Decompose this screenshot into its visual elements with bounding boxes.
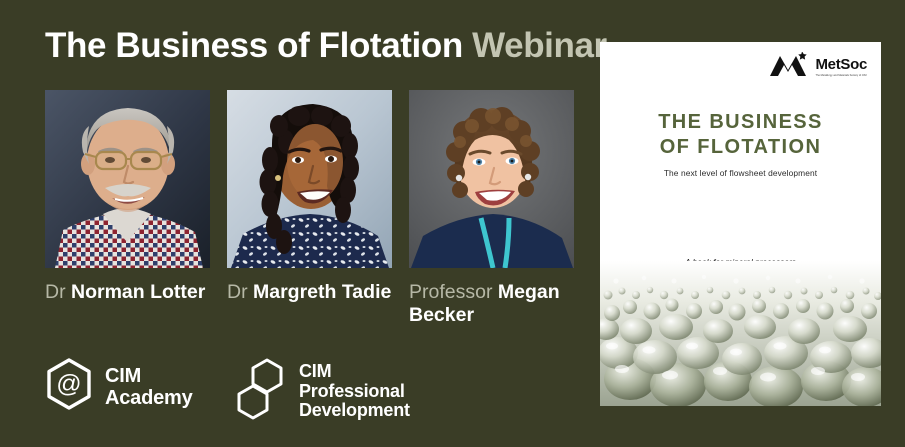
speaker-name: Professor Megan Becker — [409, 281, 574, 327]
metsoc-m-icon — [768, 52, 810, 83]
cim-academy-wordmark: CIM Academy — [105, 365, 193, 409]
book-title-line1: THE BUSINESS — [600, 110, 881, 135]
book-title-block: THE BUSINESS OF FLOTATION The next level… — [600, 110, 881, 178]
metsoc-wordmark: MetSoc The Metallurgy and Materials Soci… — [815, 58, 867, 77]
at-hexagon-icon: @ — [45, 358, 93, 415]
book-cover: MetSoc The Metallurgy and Materials Soci… — [600, 42, 881, 406]
portrait-margreth-tadie — [227, 90, 392, 268]
cim-prodev-wordmark: CIM Professional Development — [299, 362, 410, 421]
svg-text:@: @ — [56, 370, 81, 398]
cim-academy-line1: CIM — [105, 365, 141, 387]
double-hexagon-icon — [235, 358, 287, 425]
cim-prodev-line1: CIM — [299, 361, 331, 381]
portrait-megan-becker — [409, 90, 574, 268]
portrait-norman-lotter — [45, 90, 210, 268]
speakers-row: Dr Norman Lotter — [45, 90, 575, 330]
cim-academy-line2: Academy — [105, 387, 193, 409]
speaker-fullname: Margreth Tadie — [253, 281, 391, 303]
flotation-froth-bubbles-photo — [600, 261, 881, 406]
metsoc-subtext: The Metallurgy and Materials Society of … — [815, 74, 867, 77]
poster-left-panel: The Business of Flotation Webinar — [0, 0, 600, 447]
speaker-card-megan-becker: Professor Megan Becker — [409, 90, 574, 327]
book-subtitle: The next level of flowsheet development — [600, 168, 881, 178]
metsoc-logo: MetSoc The Metallurgy and Materials Soci… — [768, 52, 867, 83]
speaker-name: Dr Norman Lotter — [45, 281, 210, 304]
metsoc-name: MetSoc — [815, 56, 867, 73]
cim-prodev-line3: Development — [299, 401, 410, 421]
speaker-card-margreth-tadie: Dr Margreth Tadie — [227, 90, 392, 304]
page-title: The Business of Flotation Webinar — [45, 26, 607, 66]
page-title-main: The Business of Flotation — [45, 26, 463, 65]
speaker-name: Dr Margreth Tadie — [227, 281, 392, 304]
cim-academy-logo: @ CIM Academy — [45, 358, 193, 415]
page-title-accent: Webinar — [472, 26, 607, 65]
speaker-honorific: Dr — [227, 281, 248, 303]
cim-professional-development-logo: CIM Professional Development — [235, 358, 410, 425]
speaker-card-norman-lotter: Dr Norman Lotter — [45, 90, 210, 304]
cim-prodev-line2: Professional — [299, 382, 410, 402]
book-title-line2: OF FLOTATION — [600, 135, 881, 160]
speaker-honorific: Professor — [409, 281, 492, 303]
speaker-fullname: Norman Lotter — [71, 281, 205, 303]
speaker-honorific: Dr — [45, 281, 66, 303]
